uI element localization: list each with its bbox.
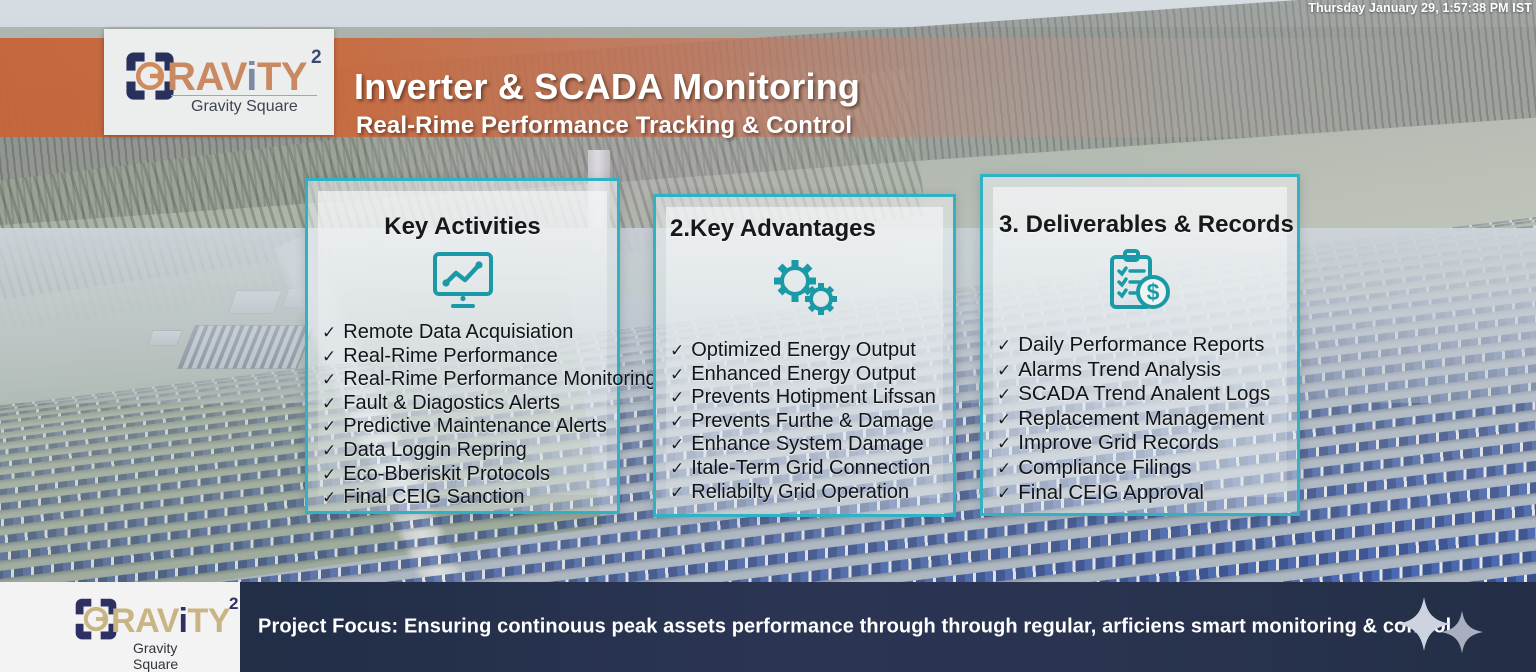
gears-icon bbox=[766, 255, 844, 326]
card-title: Key Activities bbox=[308, 213, 617, 241]
check-icon: ✓ bbox=[670, 342, 684, 359]
check-icon: ✓ bbox=[322, 489, 336, 506]
check-icon: ✓ bbox=[997, 337, 1011, 354]
slide-canvas: Thursday January 29, 1:57:38 PM IST bbox=[0, 0, 1536, 672]
footer-project-focus-text: Project Focus: Ensuring continouus peak … bbox=[258, 616, 1457, 639]
list-item: ✓Data Loggin Repring bbox=[322, 439, 613, 463]
list-item-label: Remote Data Acquisiation bbox=[343, 321, 573, 345]
list-item: ✓Itale-Term Grid Connection bbox=[670, 457, 949, 481]
card-item-list: ✓Remote Data Acquisiation✓Real-Rime Perf… bbox=[322, 321, 613, 510]
list-item: ✓Final CEIG Approval bbox=[997, 481, 1293, 506]
check-icon: ✓ bbox=[670, 460, 684, 477]
card-key-activities[interactable]: Key Activities ✓Remote Data Acquisiation… bbox=[305, 178, 620, 514]
check-icon: ✓ bbox=[997, 386, 1011, 403]
card-title: 2.Key Advantages bbox=[670, 215, 953, 243]
check-icon: ✓ bbox=[997, 362, 1011, 379]
list-item-label: Improve Grid Records bbox=[1018, 431, 1219, 456]
background-building bbox=[228, 290, 283, 314]
sparkle-decoration bbox=[1396, 596, 1500, 658]
check-icon: ✓ bbox=[997, 435, 1011, 452]
list-item-label: Fault & Diagostics Alerts bbox=[343, 392, 560, 416]
list-item: ✓Replacement Management bbox=[997, 407, 1293, 432]
list-item: ✓Daily Performance Reports bbox=[997, 333, 1293, 358]
list-item: ✓Reliabilty Grid Operation bbox=[670, 481, 949, 505]
check-icon: ✓ bbox=[322, 324, 336, 341]
list-item-label: Prevents Hotipment Lifssan bbox=[691, 386, 936, 410]
background-building bbox=[147, 330, 183, 346]
list-item-label: Data Loggin Repring bbox=[343, 439, 526, 463]
list-item-label: Enhance System Damage bbox=[691, 433, 923, 457]
check-icon: ✓ bbox=[670, 436, 684, 453]
page-subtitle: Real-Rime Performance Tracking & Control bbox=[356, 112, 852, 140]
check-icon: ✓ bbox=[322, 466, 336, 483]
background-building bbox=[177, 325, 315, 369]
list-item-label: Reliabilty Grid Operation bbox=[691, 481, 909, 505]
list-item-label: Eco-Bberiskit Protocols bbox=[343, 463, 550, 487]
check-icon: ✓ bbox=[322, 371, 336, 388]
page-title: Inverter & SCADA Monitoring bbox=[354, 66, 860, 108]
list-item: ✓Compliance Filings bbox=[997, 456, 1293, 481]
check-icon: ✓ bbox=[670, 413, 684, 430]
sparkle-icon bbox=[1440, 610, 1484, 659]
list-item-label: Alarms Trend Analysis bbox=[1018, 358, 1221, 383]
list-item: ✓Alarms Trend Analysis bbox=[997, 358, 1293, 383]
list-item: ✓Remote Data Acquisiation bbox=[322, 321, 613, 345]
logo-tagline: Gravity Square bbox=[133, 640, 225, 672]
check-icon: ✓ bbox=[322, 442, 336, 459]
list-item-label: Prevents Furthe & Damage bbox=[691, 410, 933, 434]
list-item-label: Real-Rime Performance Monitoring bbox=[343, 368, 656, 392]
list-item: ✓Real-Rime Performance bbox=[322, 345, 613, 369]
footer-brand-logo: RAViTY 2 Gravity Square bbox=[0, 582, 240, 672]
list-item-label: Itale-Term Grid Connection bbox=[691, 457, 930, 481]
logo-superscript: 2 bbox=[311, 47, 322, 69]
brand-logo-card: RAViTY 2 Gravity Square bbox=[104, 29, 334, 135]
list-item-label: Daily Performance Reports bbox=[1018, 333, 1264, 358]
timestamp: Thursday January 29, 1:57:38 PM IST bbox=[1308, 1, 1532, 15]
list-item-label: Real-Rime Performance bbox=[343, 345, 558, 369]
clipboard-dollar-icon: $ bbox=[1107, 249, 1173, 316]
list-item: ✓Prevents Hotipment Lifssan bbox=[670, 386, 949, 410]
list-item-label: Final CEIG Approval bbox=[1018, 481, 1204, 506]
card-deliverables-records[interactable]: 3. Deliverables & Records $ ✓Daily Perfo… bbox=[980, 174, 1300, 516]
logo-superscript: 2 bbox=[229, 594, 238, 614]
logo-wordmark: RAViTY bbox=[111, 602, 230, 641]
logo-wordmark: RAViTY bbox=[167, 55, 307, 100]
card-key-advantages[interactable]: 2.Key Advantages ✓Optimized Energy Outpu… bbox=[653, 194, 956, 517]
check-icon: ✓ bbox=[670, 366, 684, 383]
card-item-list: ✓Optimized Energy Output✓Enhanced Energy… bbox=[670, 339, 949, 504]
check-icon: ✓ bbox=[997, 411, 1011, 428]
check-icon: ✓ bbox=[322, 418, 336, 435]
list-item: ✓Eco-Bberiskit Protocols bbox=[322, 463, 613, 487]
card-title: 3. Deliverables & Records bbox=[999, 211, 1297, 239]
check-icon: ✓ bbox=[670, 389, 684, 406]
list-item: ✓Enhanced Energy Output bbox=[670, 363, 949, 387]
check-icon: ✓ bbox=[997, 485, 1011, 502]
list-item: ✓Real-Rime Performance Monitoring bbox=[322, 368, 613, 392]
check-icon: ✓ bbox=[322, 395, 336, 412]
list-item: ✓SCADA Trend Analent Logs bbox=[997, 382, 1293, 407]
monitor-line-chart-icon bbox=[431, 251, 495, 316]
list-item-label: Replacement Management bbox=[1018, 407, 1264, 432]
list-item-label: Compliance Filings bbox=[1018, 456, 1191, 481]
check-icon: ✓ bbox=[670, 484, 684, 501]
list-item: ✓Enhance System Damage bbox=[670, 433, 949, 457]
list-item-label: Enhanced Energy Output bbox=[691, 363, 916, 387]
list-item-label: Final CEIG Sanction bbox=[343, 486, 524, 510]
list-item-label: Optimized Energy Output bbox=[691, 339, 916, 363]
list-item: ✓Predictive Maintenance Alerts bbox=[322, 415, 613, 439]
list-item-label: Predictive Maintenance Alerts bbox=[343, 415, 606, 439]
list-item: ✓Fault & Diagostics Alerts bbox=[322, 392, 613, 416]
list-item: ✓Final CEIG Sanction bbox=[322, 486, 613, 510]
list-item: ✓Improve Grid Records bbox=[997, 431, 1293, 456]
card-item-list: ✓Daily Performance Reports✓Alarms Trend … bbox=[997, 333, 1293, 505]
list-item: ✓Optimized Energy Output bbox=[670, 339, 949, 363]
logo-tagline: Gravity Square bbox=[191, 98, 298, 116]
list-item: ✓Prevents Furthe & Damage bbox=[670, 410, 949, 434]
footer-bar: RAViTY 2 Gravity Square Project Focus: E… bbox=[0, 582, 1536, 672]
svg-text:$: $ bbox=[1147, 279, 1160, 305]
check-icon: ✓ bbox=[997, 460, 1011, 477]
check-icon: ✓ bbox=[322, 348, 336, 365]
list-item-label: SCADA Trend Analent Logs bbox=[1018, 382, 1270, 407]
